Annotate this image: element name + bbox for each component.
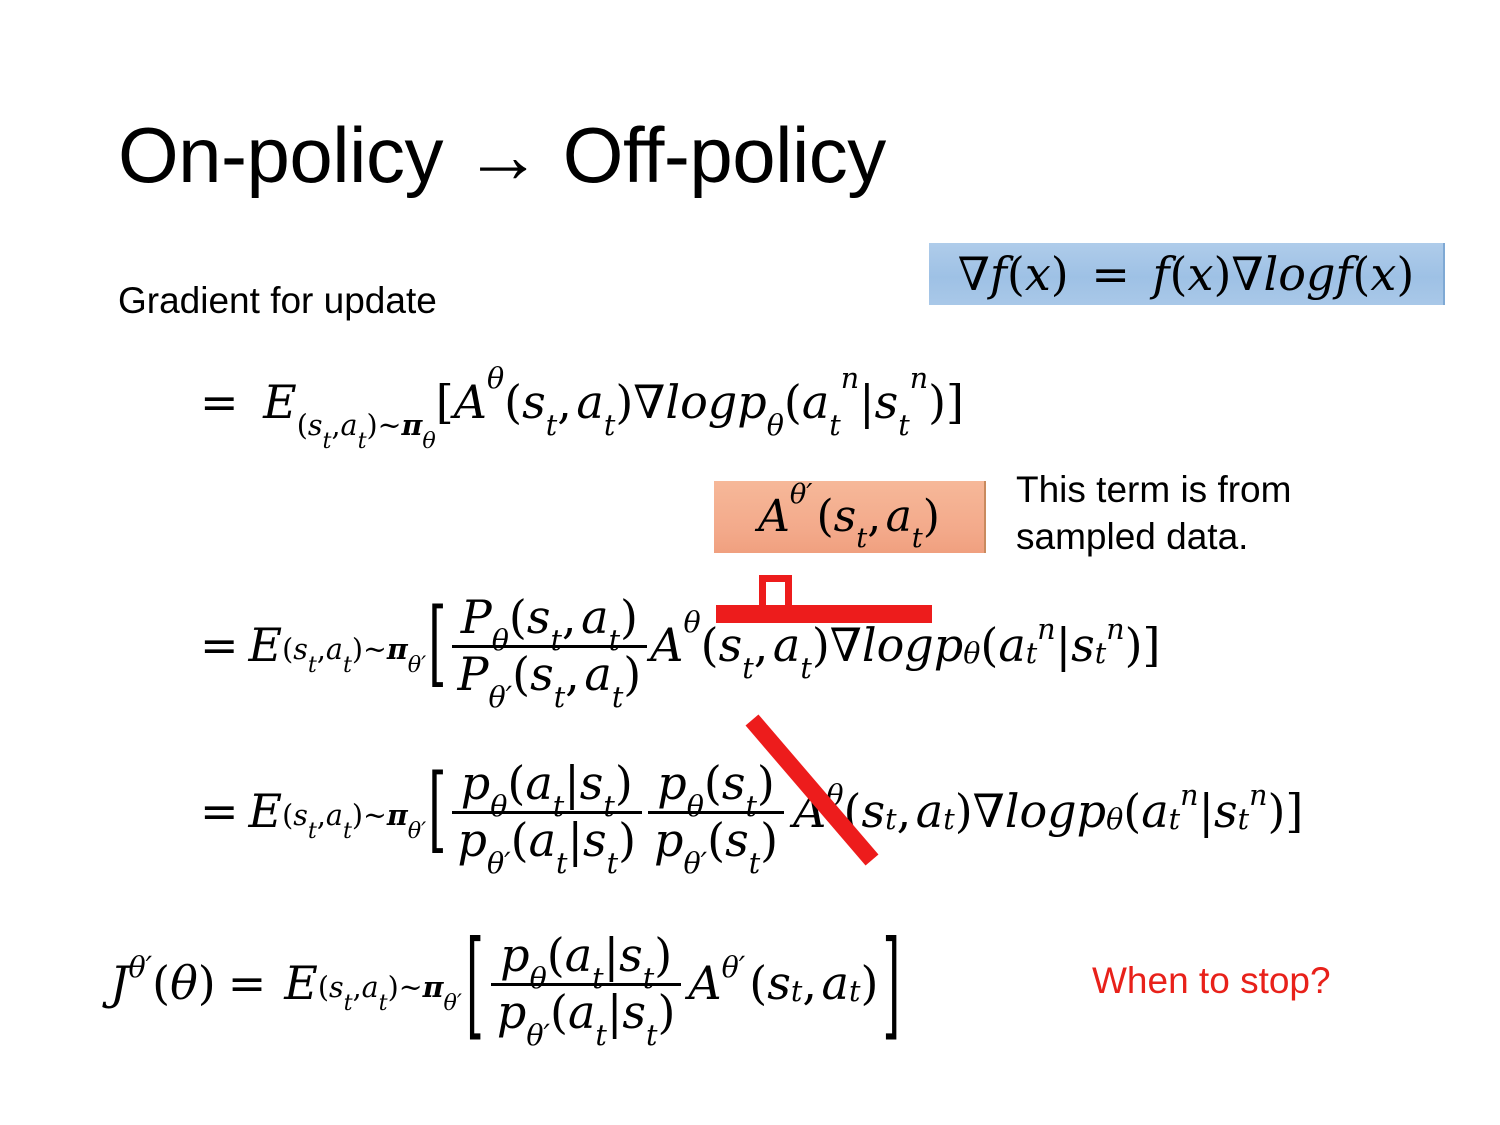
expectation-subscript: (st,at)~πθ′: [318, 987, 462, 997]
nabla-icon: ∇: [958, 247, 990, 301]
nabla-icon: ∇: [1231, 247, 1263, 301]
left-big-bracket: [: [466, 924, 484, 1041]
gradient-for-update-label: Gradient for update: [118, 277, 437, 324]
equals-sign: =: [216, 960, 279, 1006]
expectation-subscript: (st,at)~πθ′: [282, 649, 426, 659]
state-probability-ratio-fraction: pθ(st) pθ′(st): [648, 759, 784, 865]
page-title: On-policy → Off-policy: [118, 115, 1218, 197]
equation-line-3: = E(st,at)~πθ′[ pθ(at|st) pθ′(at|st) pθ(…: [200, 758, 1303, 864]
importance-weight-fraction: pθ(at|st) pθ′(at|st): [491, 931, 682, 1037]
expectation-subscript: (st,at)~πθ: [297, 425, 436, 435]
when-to-stop-question: When to stop?: [1092, 957, 1331, 1004]
advantage-theta-prime-formula: Aθ′(st, at): [758, 495, 940, 539]
equation-line-4-objective: Jθ′(θ) = E(st,at)~πθ′ [ pθ(at|st) pθ′(at…: [110, 930, 904, 1036]
gradient-log-identity-formula: ∇f(x) = f(x)∇logf(x): [958, 251, 1415, 297]
red-strikethrough-bar: [716, 605, 932, 623]
equation-line-1: = E(st,at)~πθ[Aθ(st, at)∇logpθ(atn|stn)]: [200, 379, 964, 426]
equals-sign: =: [1083, 247, 1138, 301]
nabla-icon: ∇: [633, 375, 665, 429]
objective-symbol: J: [110, 960, 128, 1006]
gradient-log-identity-highlight-box: ∇f(x) = f(x)∇logf(x): [929, 243, 1445, 305]
equals-sign: =: [200, 622, 239, 668]
equation-line-2: = E(st,at)~πθ′[ Pθ(st, at) Pθ′(st, at) A…: [200, 592, 1160, 698]
equals-sign: =: [200, 788, 239, 834]
advantage-sampled-highlight-box: Aθ′(st, at): [714, 481, 986, 553]
red-box-around-theta: [759, 575, 792, 611]
action-probability-ratio-fraction: pθ(at|st) pθ′(at|st): [452, 759, 643, 865]
struck-advantage-term: Aθ(st, at): [650, 622, 830, 668]
nabla-icon: ∇: [830, 622, 862, 668]
equals-sign: =: [200, 375, 239, 429]
right-big-bracket: ]: [882, 924, 900, 1041]
sampled-data-note: This term is from sampled data.: [1016, 466, 1396, 561]
nabla-icon: ∇: [973, 788, 1005, 834]
expectation-subscript: (st,at)~πθ′: [282, 815, 426, 825]
probability-ratio-fraction: Pθ(st, at) Pθ′(st, at): [452, 593, 648, 699]
